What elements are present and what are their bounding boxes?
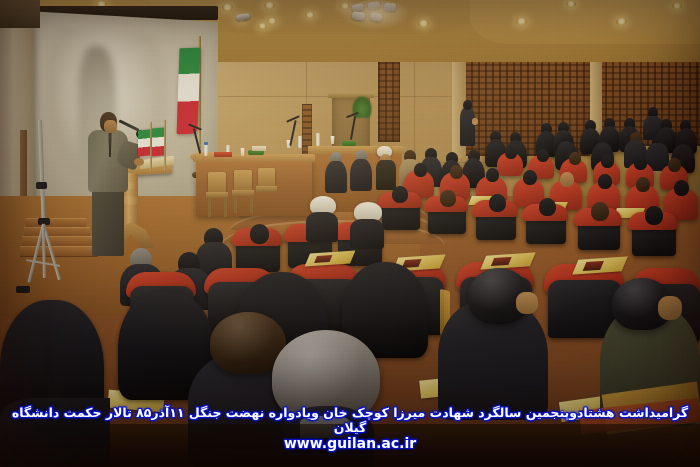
stage-chair-back <box>258 168 275 188</box>
tripod-clamp <box>36 182 47 189</box>
ceiling-downlight <box>672 3 682 9</box>
cleric-robe <box>306 212 338 242</box>
attendee-body <box>350 159 372 191</box>
bottle-cap <box>204 142 208 145</box>
stage-step <box>26 218 86 227</box>
attendee-head <box>523 170 537 185</box>
stage-chair-back <box>208 172 226 194</box>
ceiling-downlight <box>305 12 315 18</box>
conference-photo: گرامیداشت هشتادوپنجمین سالگرد شهادت میرز… <box>0 0 700 467</box>
desk-iran-flag <box>138 129 150 156</box>
speaker-legs <box>92 188 124 256</box>
stage-step <box>22 236 94 246</box>
attendee-head <box>645 206 663 225</box>
ceiling-downlight <box>616 18 627 25</box>
water-bottle <box>204 144 208 156</box>
water-bottle <box>316 133 320 146</box>
table-decor <box>342 141 356 146</box>
table-papers <box>252 146 266 151</box>
attendee-head <box>636 177 650 192</box>
attendee-head <box>414 163 427 177</box>
speaker-hand <box>134 158 144 166</box>
attendee-head <box>392 186 408 203</box>
stage-step <box>20 246 98 256</box>
stage-chair-leg <box>208 197 211 217</box>
attendee-head <box>539 198 556 216</box>
attendee-head <box>634 156 647 170</box>
attendee-head <box>674 180 689 196</box>
cleric-robe <box>376 160 396 190</box>
stage-chair-back <box>234 170 252 192</box>
attendee-head <box>560 172 574 187</box>
foreground-attendee-face <box>658 296 682 320</box>
attendee-head <box>537 149 549 162</box>
desk-flag-pole <box>164 120 166 170</box>
stage-chair-leg <box>224 197 227 217</box>
stage-step <box>24 227 90 236</box>
attendee-head <box>440 190 456 207</box>
standing-attendee <box>460 108 475 146</box>
ceiling-downlight <box>566 1 576 7</box>
ceiling-downlight <box>264 2 275 9</box>
attendee-head <box>250 224 269 244</box>
attendee-head <box>591 202 609 221</box>
pillar-shadow-top <box>0 0 40 28</box>
attendee-head <box>505 146 517 159</box>
attendee-head <box>668 158 681 172</box>
attendee-head <box>569 152 581 165</box>
attendee-head <box>486 168 499 182</box>
ceiling-downlight <box>516 18 527 25</box>
acoustic-wood-panel-narrow <box>378 58 400 142</box>
desk-iran-flag <box>152 127 164 156</box>
cleric-robe <box>350 219 384 249</box>
ceiling-downlight <box>418 20 429 27</box>
attendee-body <box>325 161 347 193</box>
attendee-head <box>463 100 472 110</box>
water-bottle <box>298 136 302 148</box>
stage-chair-leg <box>250 195 253 213</box>
foreground-attendee-dark <box>0 398 110 467</box>
stage-chair-seat <box>256 186 277 192</box>
iran-flag <box>177 48 201 135</box>
attendee-head <box>489 194 506 212</box>
stage-chair-leg <box>234 195 237 213</box>
attendee-head <box>601 154 614 168</box>
ceiling-downlight <box>258 23 267 29</box>
speaker-face <box>104 120 117 133</box>
attendee-head <box>598 174 612 189</box>
ceiling-soffit-right <box>470 0 700 44</box>
table-cloth-accent <box>214 152 232 157</box>
ceiling-downlight <box>267 18 277 24</box>
floor-cable-box <box>16 286 30 293</box>
ceiling-downlight <box>222 4 233 11</box>
spotlight-glow <box>340 0 410 30</box>
foreground-attendee-face <box>516 292 538 314</box>
attendee-hand <box>472 118 478 125</box>
attendee-head <box>450 165 463 179</box>
